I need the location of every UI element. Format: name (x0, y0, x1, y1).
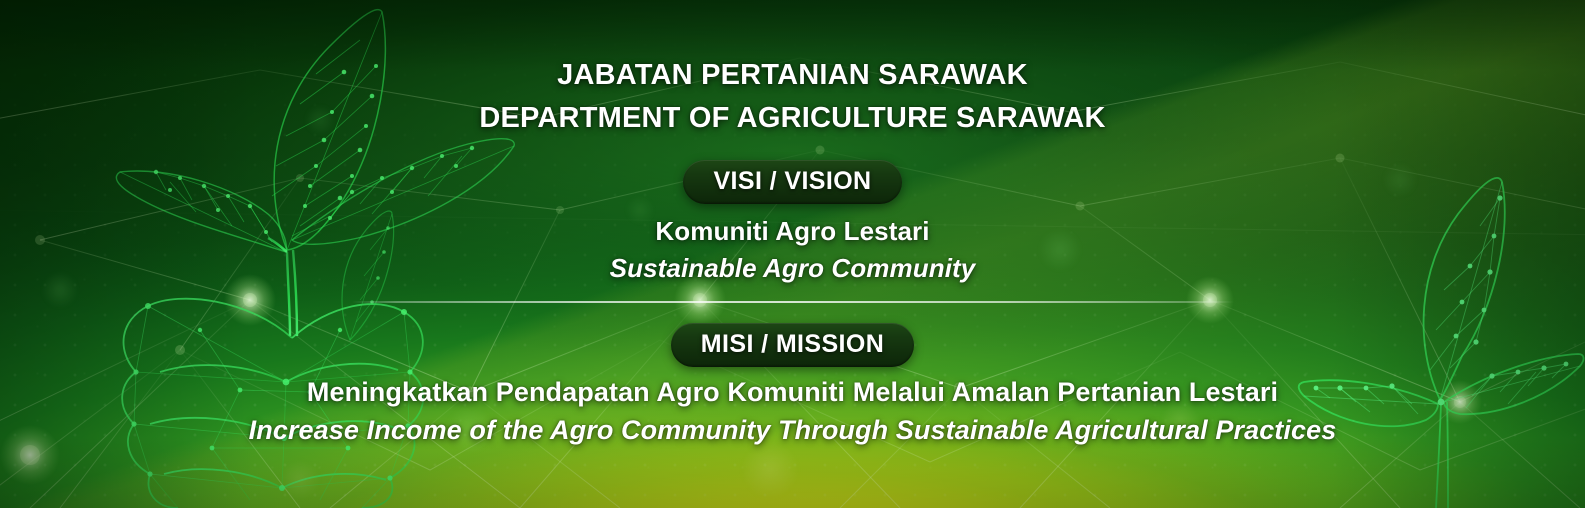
org-name-malay: JABATAN PERTANIAN SARAWAK (479, 54, 1105, 97)
vision-section: VISI / VISION Komuniti Agro Lestari Sust… (610, 140, 976, 284)
vision-statement-english: Sustainable Agro Community (610, 253, 976, 284)
org-name-english: DEPARTMENT OF AGRICULTURE SARAWAK (479, 97, 1105, 140)
mission-badge: MISI / MISSION (671, 323, 914, 367)
banner-content: JABATAN PERTANIAN SARAWAK DEPARTMENT OF … (0, 0, 1585, 508)
vision-badge: VISI / VISION (683, 160, 901, 204)
vision-mission-banner: JABATAN PERTANIAN SARAWAK DEPARTMENT OF … (0, 0, 1585, 508)
vision-statement-malay: Komuniti Agro Lestari (655, 216, 929, 247)
mission-statement-english: Increase Income of the Agro Community Th… (249, 415, 1337, 446)
mission-section: MISI / MISSION Meningkatkan Pendapatan A… (249, 303, 1337, 446)
mission-statement-malay: Meningkatkan Pendapatan Agro Komuniti Me… (307, 377, 1278, 408)
organisation-title: JABATAN PERTANIAN SARAWAK DEPARTMENT OF … (479, 54, 1105, 140)
